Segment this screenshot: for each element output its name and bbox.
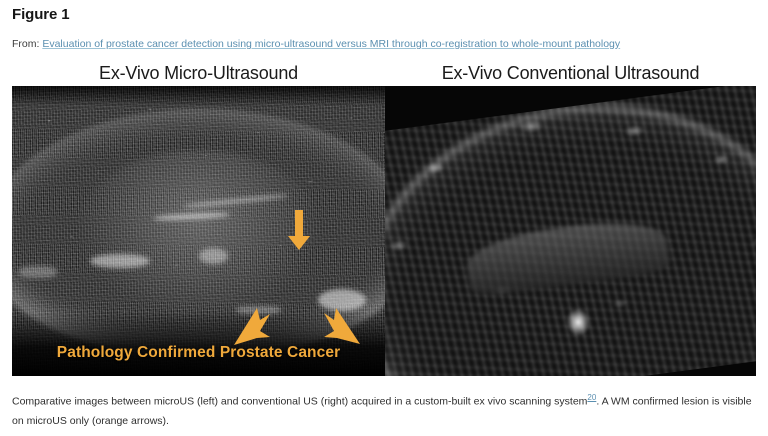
- caption-citation-link[interactable]: 20: [587, 393, 596, 402]
- echogenic-focus: [565, 308, 590, 337]
- figure-page: Figure 1 From: Evaluation of prostate ca…: [0, 0, 768, 436]
- source-article-link[interactable]: Evaluation of prostate cancer detection …: [42, 38, 620, 50]
- overlay-pathology-label: Pathology Confirmed Prostate Cancer: [12, 344, 385, 362]
- tilted-image-content: [385, 86, 756, 376]
- tilted-image-wrapper: [385, 86, 756, 376]
- arrow-lesion-left-icon: [234, 308, 270, 345]
- figure-title: Figure 1: [12, 6, 70, 23]
- panel-title-conventional-ultrasound: Ex-Vivo Conventional Ultrasound: [385, 60, 756, 86]
- panel-title-row: Ex-Vivo Micro-Ultrasound Ex-Vivo Convent…: [12, 60, 756, 86]
- caption-text-part1: Comparative images between microUS (left…: [12, 396, 587, 408]
- figure-image-area: Pathology Confirmed Prostate Cancer: [12, 86, 756, 376]
- micro-ultrasound-image: Pathology Confirmed Prostate Cancer: [12, 86, 385, 376]
- conventional-ultrasound-image: [385, 86, 756, 376]
- arrow-lesion-center-icon: [288, 210, 310, 250]
- annotation-arrow-group: [12, 86, 385, 376]
- arrow-lesion-right-icon: [324, 308, 360, 344]
- figure-caption: Comparative images between microUS (left…: [12, 388, 760, 431]
- panel-title-micro-ultrasound: Ex-Vivo Micro-Ultrasound: [12, 60, 385, 86]
- source-line: From: Evaluation of prostate cancer dete…: [12, 38, 620, 50]
- source-label: From:: [12, 38, 39, 50]
